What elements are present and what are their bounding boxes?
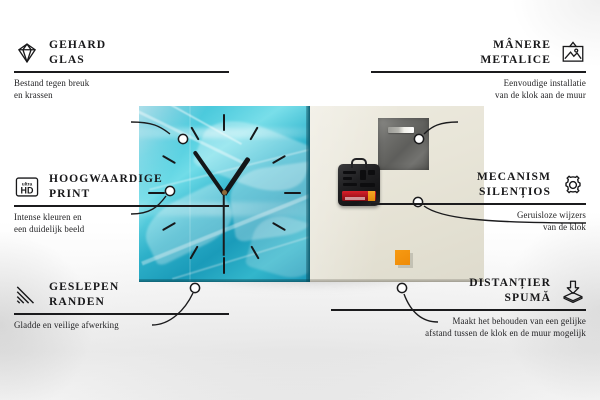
feature-title-line1: HOOGWAARDIGE bbox=[49, 172, 163, 185]
feature-desc-line2: van de klok aan de muur bbox=[495, 90, 586, 100]
feature-title-line2: RANDEN bbox=[49, 295, 105, 308]
feature-desc-line2: afstand tussen de klok en de muur mogeli… bbox=[425, 328, 586, 338]
feature-title-line1: DISTANȚIER bbox=[469, 276, 551, 289]
feature-high-quality-print: ultra HD HOOGWAARDIGE PRINT Intense kleu… bbox=[14, 172, 229, 235]
feature-divider bbox=[14, 71, 229, 72]
feature-desc-line1: Eenvoudige installatie bbox=[504, 78, 586, 88]
feature-ground-edges: GESLEPEN RANDEN Gladde en veilige afwerk… bbox=[14, 280, 229, 331]
diamond-icon bbox=[14, 41, 40, 65]
feature-title-line1: MECANISM bbox=[477, 170, 551, 183]
feature-desc-line1: Maakt het behouden van een gelijke bbox=[453, 316, 587, 326]
feature-title-line2: PRINT bbox=[49, 187, 90, 200]
feature-divider bbox=[14, 205, 229, 206]
feature-divider bbox=[14, 313, 229, 314]
feature-title-line2: GLAS bbox=[49, 53, 85, 66]
feature-desc-line1: Gladde en veilige afwerking bbox=[14, 320, 119, 330]
clock-mark-12 bbox=[223, 114, 225, 131]
feature-title-line1: GEHARD bbox=[49, 38, 106, 51]
beveled-edges-icon bbox=[14, 283, 40, 307]
mechanism-hanger-loop bbox=[351, 158, 367, 168]
feature-desc-line2: een duidelijk beeld bbox=[14, 224, 84, 234]
foam-spacer-pad bbox=[395, 250, 410, 265]
feature-silent-mechanism: MECANISM SILENȚIOS Geruisloze wijzers va… bbox=[371, 170, 586, 233]
feature-title-line2: SPUMĂ bbox=[505, 291, 551, 304]
feature-desc-line1: Intense kleuren en bbox=[14, 212, 82, 222]
feature-tempered-glass: GEHARD GLAS Bestand tegen breuk en krass… bbox=[14, 38, 229, 101]
ultra-hd-large-text: HD bbox=[21, 185, 34, 195]
feature-title-line2: METALICE bbox=[480, 53, 551, 66]
press-down-pad-icon bbox=[560, 279, 586, 303]
feature-title-line1: GESLEPEN bbox=[49, 280, 119, 293]
feature-divider bbox=[331, 309, 586, 310]
feature-desc-line1: Bestand tegen breuk bbox=[14, 78, 89, 88]
feature-divider bbox=[371, 203, 586, 204]
feature-foam-spacer: DISTANȚIER SPUMĂ Maakt het behouden van … bbox=[331, 276, 586, 339]
clock-mark-6 bbox=[223, 257, 225, 274]
feature-metal-handles: MÂNERE METALICE Eenvoudige installatie v… bbox=[371, 38, 586, 101]
feature-desc-line2: en krassen bbox=[14, 90, 53, 100]
feature-divider bbox=[371, 71, 586, 72]
feature-desc-line2: van de klok bbox=[543, 222, 586, 232]
metal-hanger-plate bbox=[378, 118, 429, 170]
ultra-hd-icon: ultra HD bbox=[14, 175, 40, 199]
feature-title-line2: SILENȚIOS bbox=[479, 185, 551, 198]
battery-label bbox=[345, 197, 365, 200]
feature-desc-line1: Geruisloze wijzers bbox=[517, 210, 586, 220]
hanger-slot bbox=[388, 127, 414, 133]
feature-title-line1: MÂNERE bbox=[493, 38, 551, 51]
wall-picture-icon bbox=[560, 41, 586, 65]
gear-icon bbox=[560, 173, 586, 197]
